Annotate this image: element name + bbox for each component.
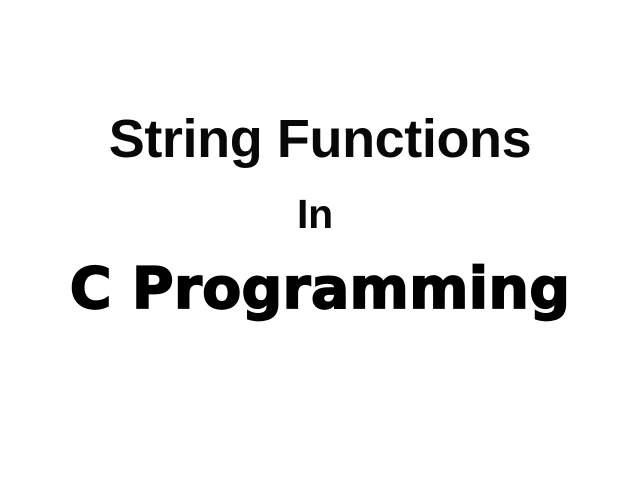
title-line-primary: String Functions [0, 108, 640, 170]
title-slide: String Functions In C Programming [0, 0, 640, 480]
title-line-emphasis: C Programming [0, 255, 640, 323]
title-line-connector: In [0, 190, 635, 238]
